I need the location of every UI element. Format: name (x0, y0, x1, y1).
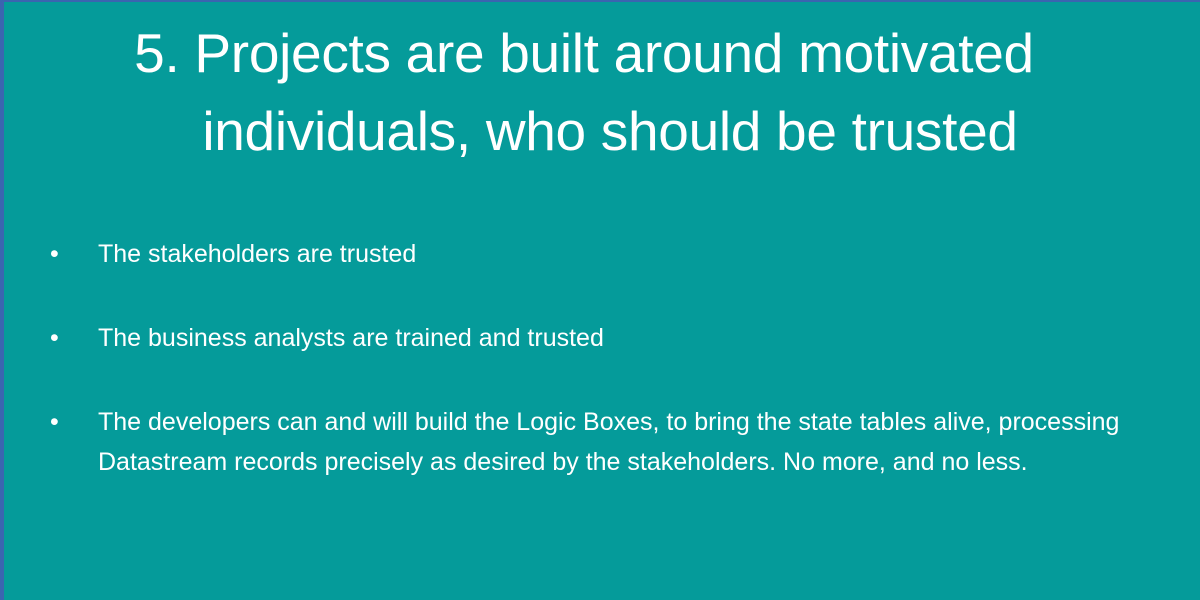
bullet-list-item: • The developers can and will build the … (42, 402, 1182, 482)
slide-title: 5. Projects are built around motivated i… (4, 14, 1164, 170)
slide-title-line-1: 5. Projects are built around motivated (24, 14, 1144, 92)
bullet-item-text: The stakeholders are trusted (98, 234, 1173, 274)
bullet-point-icon: • (42, 402, 98, 442)
bullet-list-item: • The stakeholders are trusted (42, 234, 1182, 274)
slide-canvas: 5. Projects are built around motivated i… (0, 0, 1200, 600)
slide-title-line-2: individuals, who should be trusted (24, 92, 1144, 170)
bullet-item-text: The business analysts are trained and tr… (98, 318, 1173, 358)
slide-body: • The stakeholders are trusted • The bus… (42, 234, 1182, 482)
bullet-point-icon: • (42, 318, 98, 358)
bullet-item-text: The developers can and will build the Lo… (98, 402, 1176, 482)
bullet-list-item: • The business analysts are trained and … (42, 318, 1182, 358)
bullet-point-icon: • (42, 234, 98, 274)
